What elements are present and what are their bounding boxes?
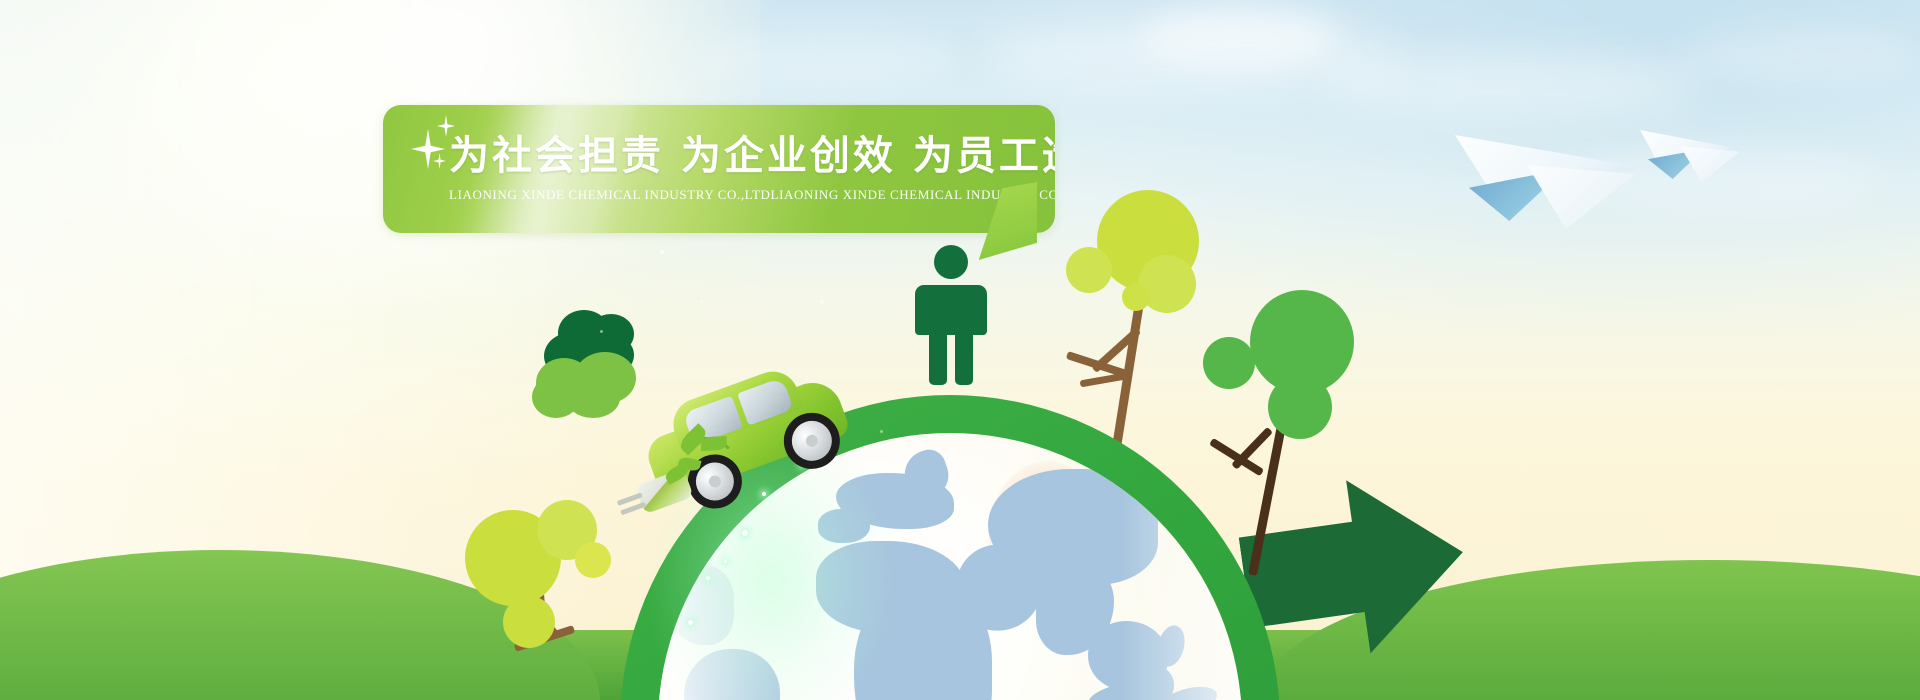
dust-particle [660, 250, 664, 254]
company-subtitle: LIAONING XINDE CHEMICAL INDUSTRY CO.,LTD… [449, 187, 1055, 203]
sparkle-icon [742, 530, 748, 536]
dust-particle [880, 430, 883, 433]
globe-edge-fade-right [1122, 433, 1242, 700]
sparkle-icon [706, 576, 710, 580]
person-icon [915, 245, 987, 385]
headline-text: 为社会担责 为企业创效 为员工造福 [449, 123, 1055, 181]
cloud-icon [1680, 30, 1920, 80]
dust-particle [820, 300, 824, 304]
headline-banner: 为社会担责 为企业创效 为员工造福 LIAONING XINDE CHEMICA… [383, 105, 1055, 233]
sparkle-icon [688, 620, 693, 625]
cloud-icon [1320, 55, 1700, 115]
dust-particle [700, 300, 703, 303]
paper-plane-icon [1640, 130, 1750, 188]
person-torso [915, 285, 987, 335]
dust-particle [560, 420, 563, 423]
person-head [934, 245, 968, 279]
cloud-icon [700, 35, 960, 83]
dust-particle [600, 330, 603, 333]
paper-plane-icon [1455, 135, 1655, 230]
sparkle-icon [724, 560, 727, 563]
cloud-icon [1140, 8, 1340, 64]
banner-stage: 为社会担责 为企业创效 为员工造福 LIAONING XINDE CHEMICA… [0, 0, 1920, 700]
person-leg-left [929, 327, 947, 385]
person-leg-right [955, 327, 973, 385]
